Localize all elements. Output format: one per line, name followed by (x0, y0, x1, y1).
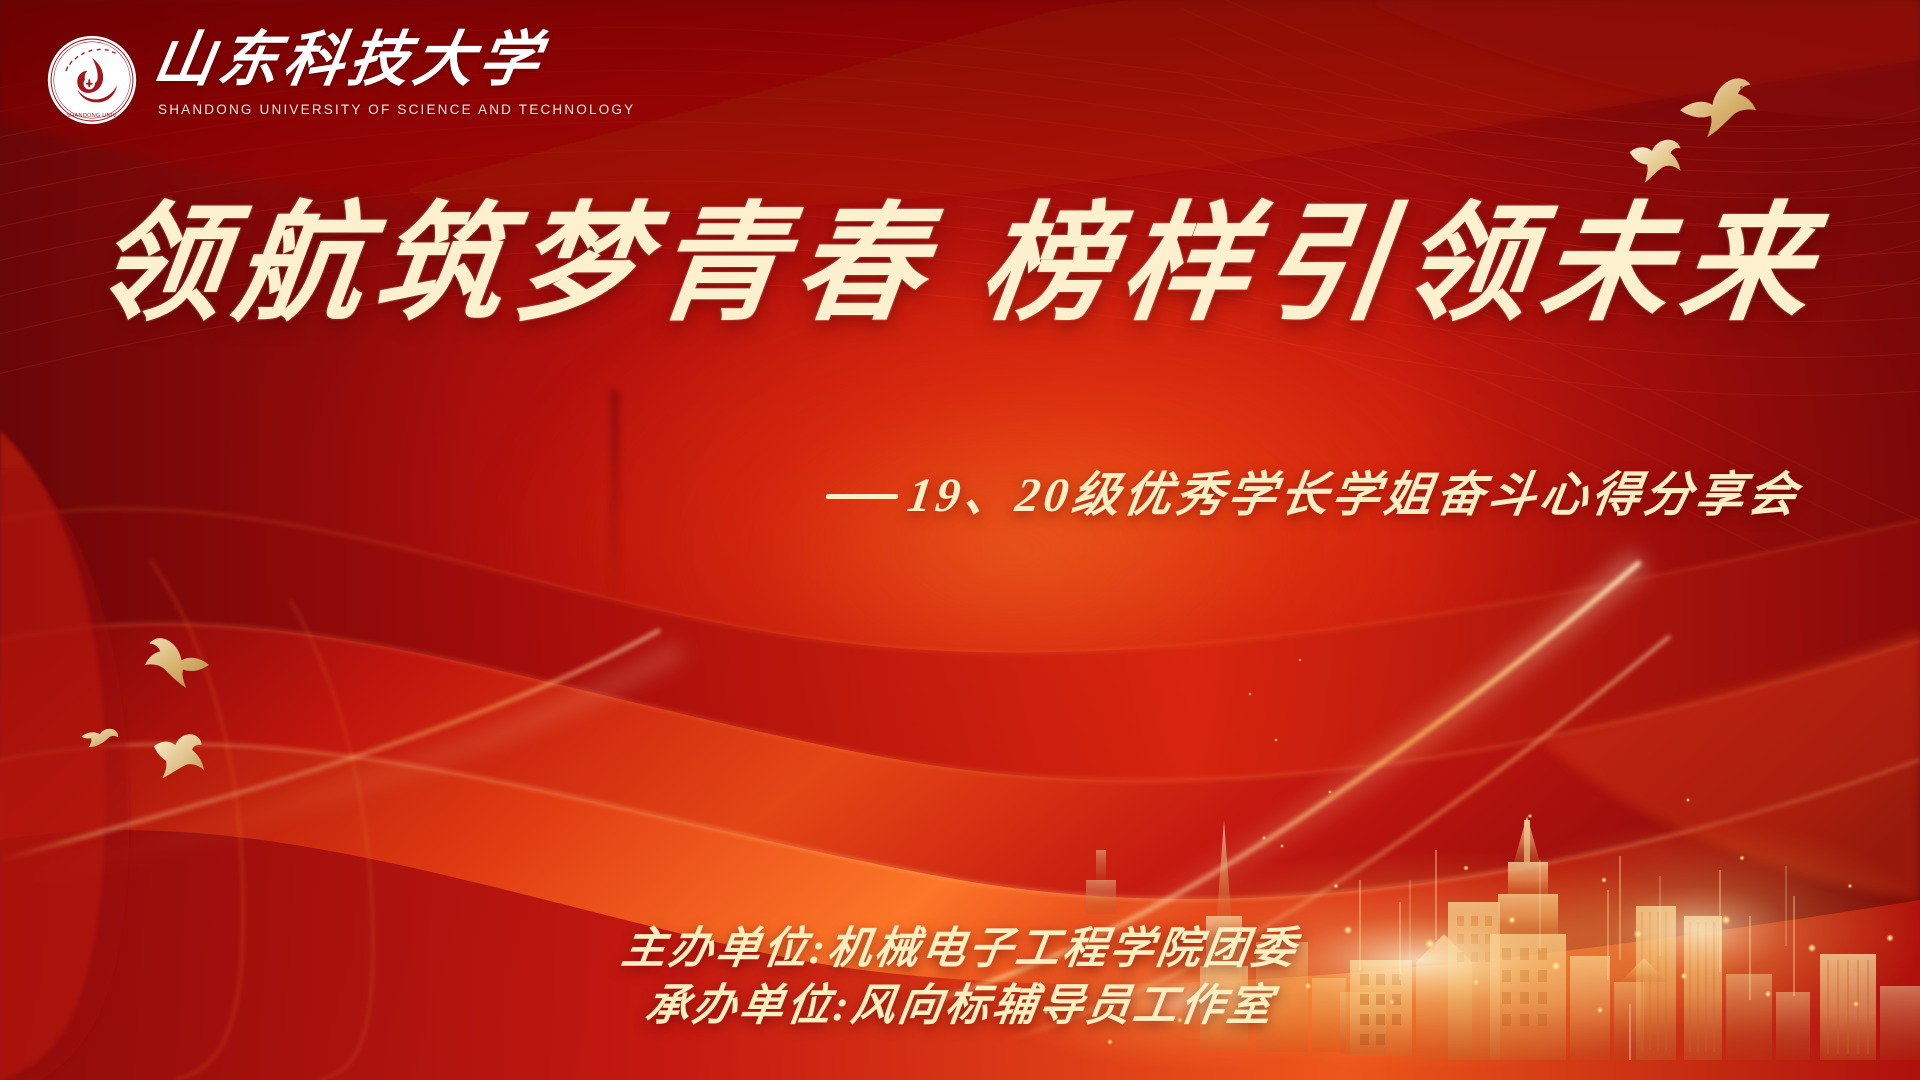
poster-subheadline: 19、20级优秀学长学姐奋斗心得分享会 (823, 472, 1804, 520)
organizer-host: 主办单位:机械电子工程学院团委 (0, 921, 1920, 977)
dove-icon (138, 636, 216, 700)
headline-part-1: 领航筑梦青春 (87, 194, 944, 336)
dove-icon (1626, 136, 1688, 188)
dove-icon (148, 732, 210, 782)
dove-icon (78, 722, 122, 756)
shandong-ust-emblem-icon: SHANDONG UNIV. (46, 34, 138, 126)
poster-canvas: SHANDONG UNIV. 山东科技大学 SHANDONG UNIVERSIT… (0, 0, 1920, 1080)
poster-headline: 领航筑梦青春榜样引领未来 (88, 196, 1505, 334)
university-logo-block: SHANDONG UNIV. 山东科技大学 SHANDONG UNIVERSIT… (46, 30, 635, 126)
organizer-block: 主办单位:机械电子工程学院团委 承办单位:风向标辅导员工作室 (0, 921, 1920, 1034)
subheadline-text: 19、20级优秀学长学姐奋斗心得分享会 (905, 472, 1804, 520)
headline-part-2: 榜样引领未来 (973, 194, 1830, 336)
svg-text:SHANDONG UNIV.: SHANDONG UNIV. (66, 113, 118, 119)
university-name-en: SHANDONG UNIVERSITY OF SCIENCE AND TECHN… (158, 102, 635, 117)
university-name-cn: 山东科技大学 (149, 30, 640, 90)
em-dash-icon (826, 494, 899, 499)
organizer-undertaker: 承办单位:风向标辅导员工作室 (0, 978, 1920, 1034)
